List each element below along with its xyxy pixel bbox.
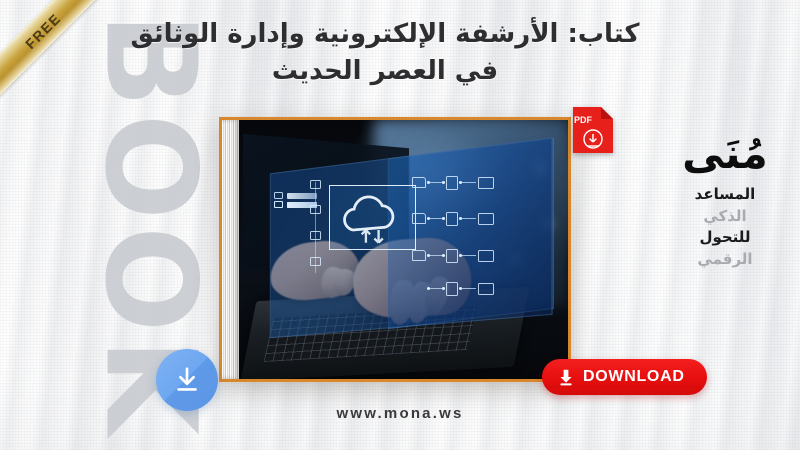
book-cover-frame bbox=[219, 117, 571, 382]
download-arrow-icon bbox=[558, 368, 574, 386]
download-button-label: DOWNLOAD bbox=[583, 368, 685, 386]
pdf-badge-label: PDF bbox=[574, 115, 593, 125]
hologram-node bbox=[310, 257, 321, 266]
download-button[interactable]: DOWNLOAD bbox=[542, 359, 707, 395]
laptop-photo bbox=[222, 120, 568, 379]
pdf-file-icon[interactable]: PDF bbox=[571, 105, 615, 155]
download-circle-button[interactable] bbox=[156, 349, 218, 411]
brand-tagline-line-3: للتحول bbox=[655, 227, 795, 249]
hologram-cloud-box bbox=[329, 185, 416, 250]
brand-tagline-line-4: الرقمي bbox=[655, 249, 795, 271]
hologram-node bbox=[310, 205, 321, 214]
download-arrow-icon bbox=[171, 364, 203, 396]
brand-block: مُنَى المساعد الذكي للتحول الرقمي bbox=[655, 134, 795, 271]
page-title: كتاب: الأرشفة الإلكترونية وإدارة الوثائق… bbox=[120, 16, 650, 90]
cloud-upload-icon bbox=[330, 186, 415, 249]
hologram-node bbox=[310, 180, 321, 189]
hologram-node bbox=[310, 231, 321, 240]
brand-tagline-line-1: المساعد bbox=[655, 184, 795, 206]
website-url[interactable]: www.mona.ws bbox=[0, 405, 800, 422]
brand-logo: مُنَى bbox=[655, 134, 795, 174]
brand-tagline-line-2: الذكي bbox=[655, 206, 795, 228]
promo-banner: BOOK FREE كتاب: الأرشفة الإلكترونية وإدا… bbox=[0, 0, 800, 450]
book-page-edges bbox=[222, 120, 239, 379]
